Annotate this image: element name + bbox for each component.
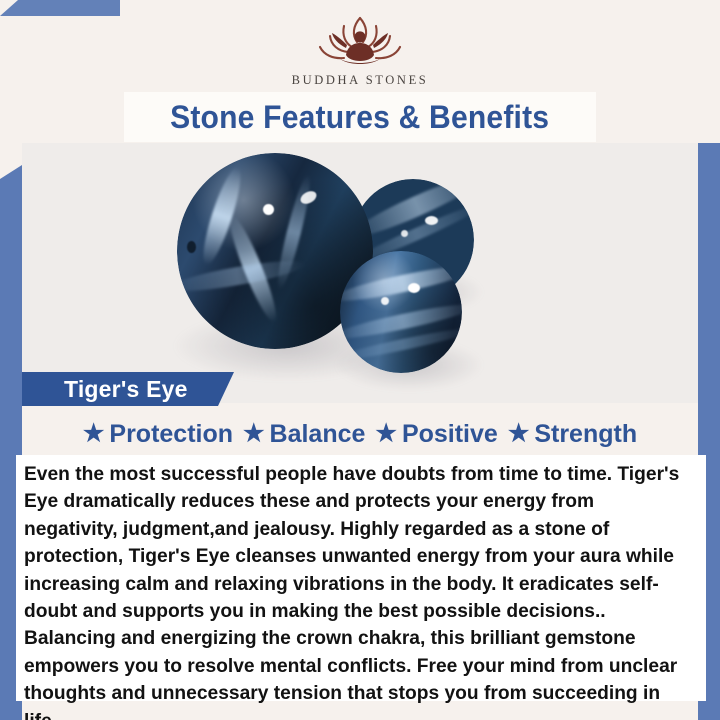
stone-name-label: Tiger's Eye [22, 376, 188, 403]
product-photo-panel [22, 143, 698, 403]
title-banner: Stone Features & Benefits [124, 92, 596, 142]
benefit-label: Strength [534, 420, 637, 449]
star-icon: ★ [83, 422, 105, 446]
stone-name-badge: Tiger's Eye [22, 372, 234, 406]
benefits-row: ★ Protection ★ Balance ★ Positive ★ Stre… [0, 415, 720, 453]
benefit-label: Positive [402, 420, 498, 449]
benefit-label: Protection [109, 420, 233, 449]
benefit-item-positive: ★ Positive [371, 420, 501, 449]
benefit-item-protection: ★ Protection [79, 420, 237, 449]
page-title: Stone Features & Benefits [170, 99, 549, 136]
benefit-item-strength: ★ Strength [504, 420, 641, 449]
gemstone-photo [22, 143, 698, 403]
star-icon: ★ [375, 422, 397, 446]
brand-logo: BUDDHA STONES [0, 14, 720, 92]
brand-wordmark: BUDDHA STONES [292, 73, 429, 88]
description-text: Even the most successful people have dou… [24, 461, 686, 720]
star-icon: ★ [508, 422, 530, 446]
benefit-item-balance: ★ Balance [239, 420, 369, 449]
infographic-page: BUDDHA STONES Stone Features & Benefits [0, 0, 720, 720]
benefit-label: Balance [270, 420, 366, 449]
star-icon: ★ [243, 422, 265, 446]
lotus-meditation-figure-icon [300, 14, 420, 72]
description-block: Even the most successful people have dou… [16, 455, 706, 701]
gemstone-sphere-small [340, 251, 462, 373]
